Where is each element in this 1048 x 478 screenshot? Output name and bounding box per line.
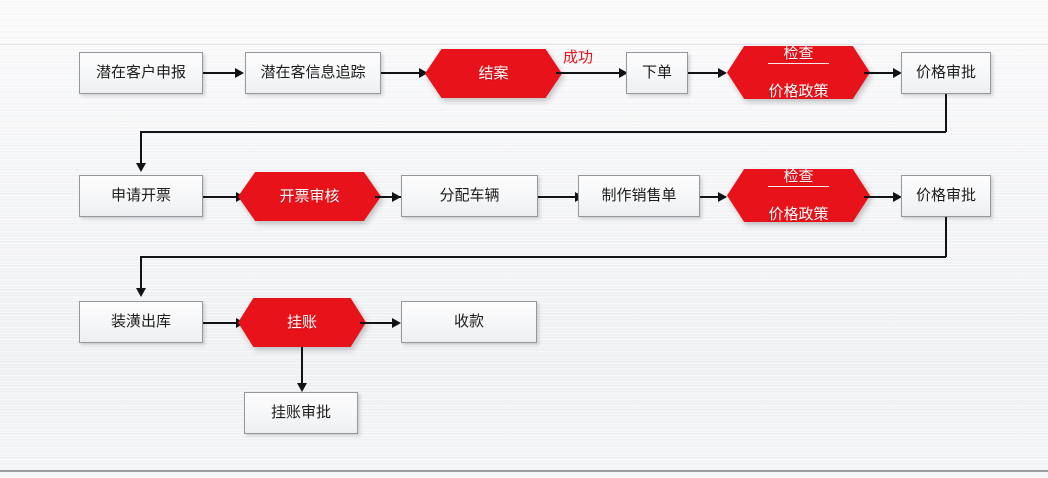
node-assign-vehicle[interactable]: 分配车辆 <box>401 175 538 217</box>
node-case-closed[interactable]: 结案 <box>425 49 562 98</box>
node-potential-customer-declaration[interactable]: 潜在客户申报 <box>79 52 203 94</box>
node-label: 分配车辆 <box>439 187 499 204</box>
node-potential-customer-tracking[interactable]: 潜在客信息追踪 <box>245 52 381 94</box>
node-label-line1: 检查 <box>768 168 828 187</box>
connector-row2-row3-seg-down <box>945 217 947 257</box>
node-label: 收款 <box>454 313 484 330</box>
connector-n14-n15 <box>360 322 395 324</box>
node-label-line1: 检查 <box>768 45 828 64</box>
connector-n14-n16 <box>301 347 303 385</box>
connector-row2-row3-seg-left <box>140 256 946 258</box>
node-label: 下单 <box>642 64 672 81</box>
arrowhead-n14-n16 <box>297 383 307 392</box>
node-label: 潜在客信息追踪 <box>260 64 365 81</box>
connector-n9-n10 <box>538 196 578 198</box>
node-label: 开票审核 <box>279 188 339 205</box>
node-invoice-request[interactable]: 申请开票 <box>79 175 203 217</box>
flowchart-canvas: 潜在客户申报 潜在客信息追踪 结案 成功 下单 检查 价格政策 价格审批 申请开… <box>0 0 1048 478</box>
connector-row1-row2-seg-left <box>140 131 946 133</box>
node-credit-account-approval[interactable]: 挂账审批 <box>244 392 358 434</box>
node-check-price-policy-2[interactable]: 检查 价格政策 <box>727 169 870 222</box>
node-label-line2: 价格政策 <box>768 83 828 100</box>
connector-n13-n14 <box>203 322 239 324</box>
arrowhead-n1-n2 <box>235 68 244 78</box>
connector-n7-n8 <box>203 196 239 198</box>
node-receive-payment[interactable]: 收款 <box>401 301 537 343</box>
connector-n3-n4 <box>556 72 622 74</box>
connector-n5-n6 <box>864 72 896 74</box>
node-price-approval-1[interactable]: 价格审批 <box>901 52 991 94</box>
connector-n2-n3 <box>381 72 422 74</box>
edge-label-success: 成功 <box>563 46 593 67</box>
node-label: 制作销售单 <box>601 187 676 204</box>
node-label-line2: 价格政策 <box>768 206 828 223</box>
arrowhead-n4-n5 <box>718 68 727 78</box>
node-label: 装潢出库 <box>111 313 171 330</box>
node-label: 检查 价格政策 <box>768 28 828 117</box>
node-check-price-policy-1[interactable]: 检查 价格政策 <box>727 46 870 99</box>
node-place-order[interactable]: 下单 <box>626 52 688 94</box>
arrowhead-n14-n15 <box>392 318 401 328</box>
bottom-divider <box>0 470 1048 472</box>
arrowhead-row1-row2 <box>136 163 146 172</box>
connector-n4-n5 <box>688 72 721 74</box>
arrowhead-row2-row3 <box>136 288 146 297</box>
node-invoice-review[interactable]: 开票审核 <box>238 172 381 221</box>
node-label: 价格审批 <box>916 187 976 204</box>
node-label: 挂账 <box>287 314 317 331</box>
node-label: 检查 价格政策 <box>768 151 828 240</box>
connector-row2-row3-seg-enter <box>140 256 142 291</box>
connector-n1-n2 <box>203 72 238 74</box>
connector-row1-row2-seg-down <box>945 94 947 132</box>
node-create-sales-order[interactable]: 制作销售单 <box>578 175 700 217</box>
node-label: 申请开票 <box>111 187 171 204</box>
node-label: 潜在客户申报 <box>96 64 186 81</box>
node-label: 价格审批 <box>916 64 976 81</box>
node-credit-account[interactable]: 挂账 <box>238 298 366 347</box>
arrowhead-n8-n9 <box>392 192 401 202</box>
node-label: 结案 <box>478 65 508 82</box>
connector-row1-row2-seg-enter <box>140 131 142 166</box>
top-divider <box>0 44 1048 45</box>
node-price-approval-2[interactable]: 价格审批 <box>901 175 991 217</box>
connector-n11-n12 <box>864 196 896 198</box>
arrowhead-n10-n11 <box>718 192 727 202</box>
node-label: 挂账审批 <box>271 404 331 421</box>
node-decoration-outbound[interactable]: 装潢出库 <box>79 301 203 343</box>
